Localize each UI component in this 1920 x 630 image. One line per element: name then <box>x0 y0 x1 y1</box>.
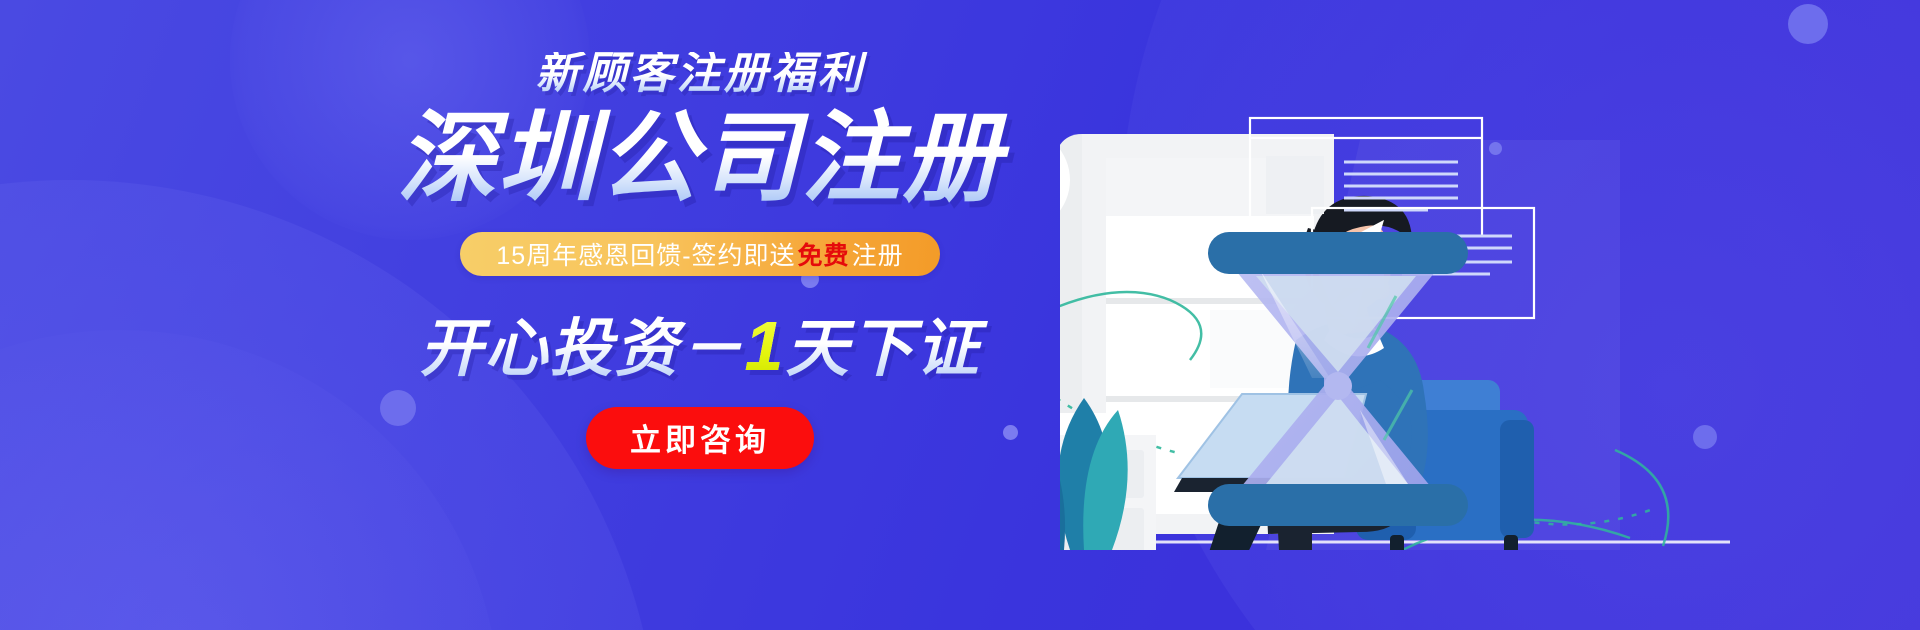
badge-trail-text: 注册 <box>852 236 904 272</box>
promo-badge: 15周年感恩回馈-签约即送免费注册 <box>460 232 940 276</box>
subline-before: 开心投资－ <box>420 314 745 384</box>
consult-now-button[interactable]: 立即咨询 <box>586 407 814 469</box>
hero-illustration <box>1060 80 1860 550</box>
banner-copy: 新顾客注册福利 深圳公司注册 15周年感恩回馈-签约即送免费注册 开心投资－1天… <box>330 52 1070 469</box>
subline-after: 天下证 <box>785 314 980 384</box>
badge-highlight-text: 免费 <box>796 236 852 272</box>
page-title: 深圳公司注册 <box>330 106 1070 210</box>
subline-number: 1 <box>745 307 786 385</box>
badge-lead-text: 15周年感恩回馈-签约即送 <box>496 236 795 272</box>
promo-banner: 新顾客注册福利 深圳公司注册 15周年感恩回馈-签约即送免费注册 开心投资－1天… <box>0 0 1920 630</box>
sub-headline: 开心投资－1天下证 <box>330 298 1070 389</box>
eyebrow-text: 新顾客注册福利 <box>330 52 1070 96</box>
